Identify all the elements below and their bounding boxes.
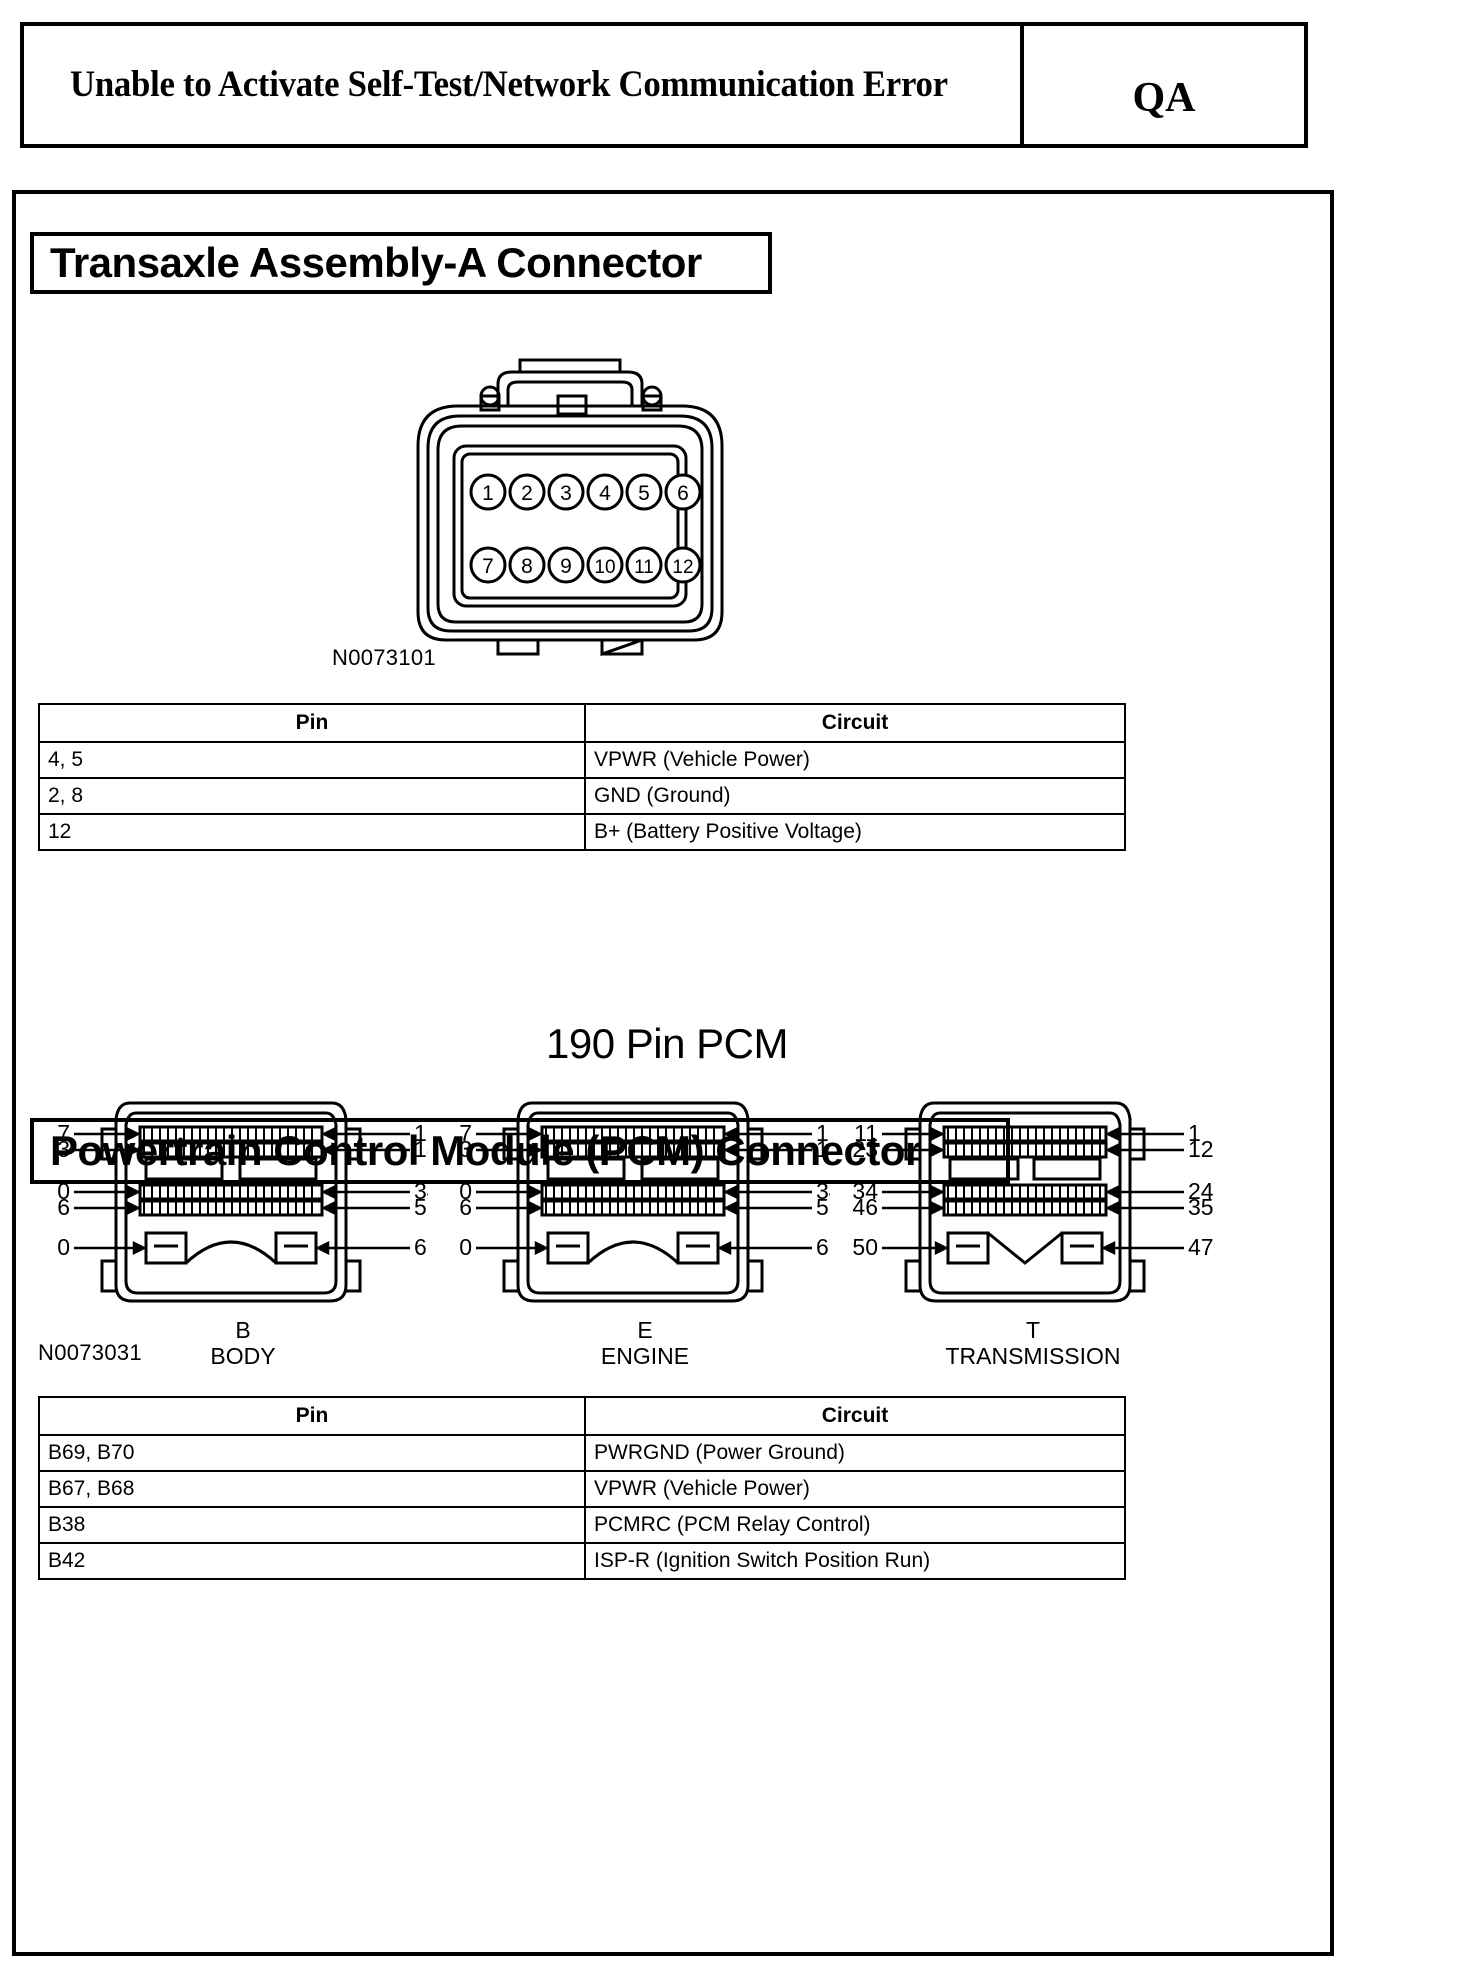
pcm-t-left-label-2: 23 [852,1136,878,1162]
header-title-cell: Unable to Activate Self-Test/Network Com… [24,26,1024,144]
svg-text:8: 8 [521,555,533,578]
pcm-e-right-label-2: 18 [816,1136,830,1162]
table-row: B69, B70 PWRGND (Power Ground) [39,1435,1125,1471]
cell-circuit: PWRGND (Power Ground) [585,1435,1125,1471]
pcm-pin-table: Pin Circuit B69, B70 PWRGND (Power Groun… [38,1396,1126,1580]
figure-id-pcm: N0073031 [38,1340,142,1366]
pcm-t-left-label-4: 46 [852,1194,878,1220]
svg-text:1: 1 [482,482,494,505]
pcm-t-left-label-5: 50 [852,1234,878,1260]
svg-text:5: 5 [638,482,650,505]
cell-circuit: VPWR (Vehicle Power) [585,742,1125,778]
cell-pin: B38 [39,1507,585,1543]
cell-pin: B69, B70 [39,1435,585,1471]
cell-pin: B67, B68 [39,1471,585,1507]
table-row: B67, B68 VPWR (Vehicle Power) [39,1471,1125,1507]
cell-circuit: GND (Ground) [585,778,1125,814]
svg-text:4: 4 [599,482,611,505]
cell-circuit: VPWR (Vehicle Power) [585,1471,1125,1507]
pcm-caption-transmission-name: TRANSMISSION [848,1343,1218,1369]
column-header-pin: Pin [39,1397,585,1435]
table-row: 2, 8 GND (Ground) [39,778,1125,814]
cell-pin: 12 [39,814,585,850]
svg-text:3: 3 [560,482,572,505]
table-header-row: Pin Circuit [39,1397,1125,1435]
cell-circuit: ISP-R (Ignition Switch Position Run) [585,1543,1125,1579]
pcm-caption-engine-name: ENGINE [460,1343,830,1369]
pcm-t-right-label-5: 47 [1188,1234,1214,1260]
svg-text:6: 6 [677,482,689,505]
pin-circle-row-bottom: 7 8 9 10 11 12 [471,548,700,582]
table-row: B38 PCMRC (PCM Relay Control) [39,1507,1125,1543]
pcm-b-right-label-2: 18 [414,1136,428,1162]
pcm-b-left-label-4: 66 [58,1194,70,1220]
header-code-cell: QA [1024,26,1304,144]
svg-text:11: 11 [634,557,654,578]
figure-id-transaxle: N0073101 [332,645,436,671]
column-header-circuit: Circuit [585,704,1125,742]
cell-circuit: B+ (Battery Positive Voltage) [585,814,1125,850]
page-title: Unable to Activate Self-Test/Network Com… [70,64,948,105]
pcm-caption-engine-letter: E [460,1317,830,1343]
page-header: Unable to Activate Self-Test/Network Com… [20,22,1308,148]
svg-text:12: 12 [672,557,693,578]
column-header-circuit: Circuit [585,1397,1125,1435]
transaxle-connector-diagram: 1 2 3 4 5 6 7 8 9 [380,350,760,660]
pcm-b-left-label-2: 33 [58,1136,70,1162]
section-heading-transaxle: Transaxle Assembly-A Connector [30,232,772,294]
cell-pin: B42 [39,1543,585,1579]
pcm-b-right-label-4: 51 [414,1194,428,1220]
pcm-b-left-label-5: 70 [58,1234,70,1260]
pcm-caption-transmission: T TRANSMISSION [848,1317,1218,1370]
pcm-t-right-label-2: 12 [1188,1136,1214,1162]
cell-pin: 4, 5 [39,742,585,778]
pin-circle-row-top: 1 2 3 4 5 6 [471,475,700,509]
svg-text:2: 2 [521,482,533,505]
pcm-e-left-label-2: 33 [460,1136,472,1162]
pcm-e-left-label-4: 66 [460,1194,472,1220]
section-heading-transaxle-label: Transaxle Assembly-A Connector [50,239,702,287]
pcm-t-right-label-4: 35 [1188,1194,1214,1220]
pcm-caption-transmission-letter: T [848,1317,1218,1343]
cell-circuit: PCMRC (PCM Relay Control) [585,1507,1125,1543]
section-code-badge: QA [1133,48,1196,122]
cell-pin: 2, 8 [39,778,585,814]
document-page: Unable to Activate Self-Test/Network Com… [0,0,1472,1964]
pcm-e-right-label-5: 67 [816,1234,830,1260]
table-row: B42 ISP-R (Ignition Switch Position Run) [39,1543,1125,1579]
table-header-row: Pin Circuit [39,704,1125,742]
pcm-subheading: 190 Pin PCM [0,1020,1334,1068]
table-row: 12 B+ (Battery Positive Voltage) [39,814,1125,850]
svg-text:7: 7 [482,555,494,578]
pcm-e-left-label-5: 70 [460,1234,472,1260]
table-row: 4, 5 VPWR (Vehicle Power) [39,742,1125,778]
pcm-b-right-label-5: 67 [414,1234,428,1260]
column-header-pin: Pin [39,704,585,742]
transaxle-pin-table: Pin Circuit 4, 5 VPWR (Vehicle Power) 2,… [38,703,1126,851]
svg-text:9: 9 [560,555,572,578]
pcm-e-right-label-4: 51 [816,1194,830,1220]
svg-text:10: 10 [594,557,615,578]
pcm-caption-engine: E ENGINE [460,1317,830,1370]
transaxle-connector-svg: 1 2 3 4 5 6 7 8 9 [380,350,760,660]
